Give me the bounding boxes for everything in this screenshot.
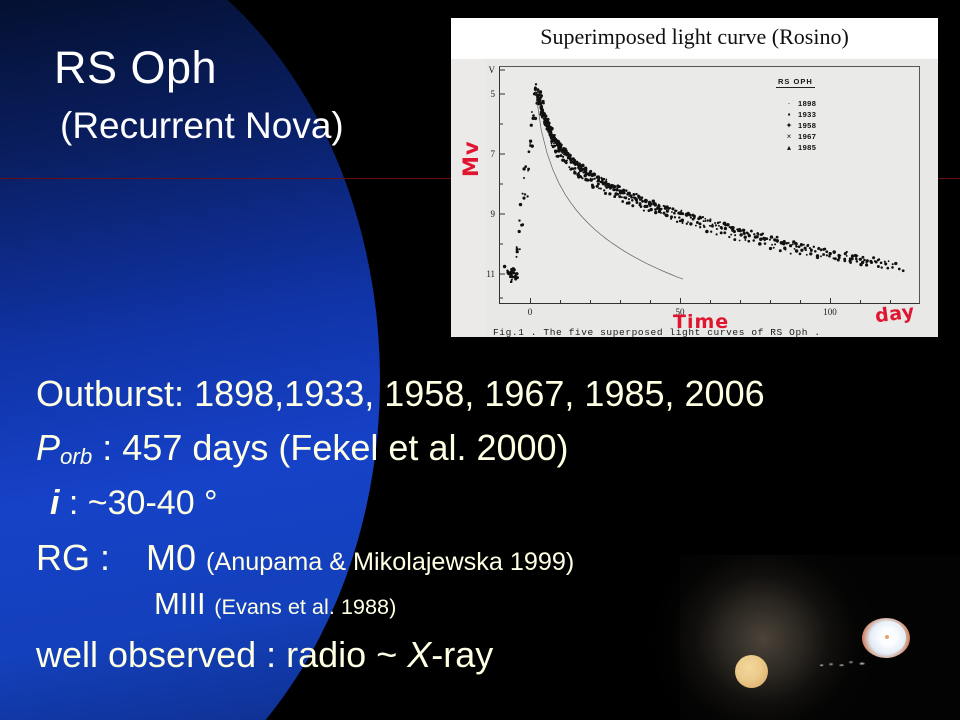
fact-list: Outburst: 1898,1933, 1958, 1967, 1985, 2… xyxy=(36,376,960,673)
figure-title-banner: Superimposed light curve (Rosino) xyxy=(451,18,938,59)
y-tick-label-5: 5 xyxy=(491,89,496,99)
fact-outburst: Outburst: 1898,1933, 1958, 1967, 1985, 2… xyxy=(36,376,960,412)
y-tick-label-7: 7 xyxy=(491,149,496,159)
y-tick-label-9: 9 xyxy=(491,209,496,219)
page-title: RS Oph xyxy=(54,42,217,94)
rg-type: M0 xyxy=(146,537,196,578)
y-tick-label-11: 11 xyxy=(486,269,495,279)
handwritten-x-axis-label: Time xyxy=(673,311,729,333)
observed-value-prefix: radio ~ xyxy=(286,634,407,675)
fact-orbital-period: Porb : 457 days (Fekel et al. 2000) xyxy=(36,430,960,468)
observed-label: well observed xyxy=(36,634,256,675)
x-tick-label-100: 100 xyxy=(823,307,837,317)
page-subtitle: (Recurrent Nova) xyxy=(60,105,344,147)
figure-left-margin xyxy=(451,59,485,337)
x-tick-label-0: 0 xyxy=(528,307,533,317)
slide-canvas: RS Oph (Recurrent Nova) Superimposed lig… xyxy=(0,0,960,720)
light-curve-datapoints xyxy=(500,67,919,303)
porb-separator: : xyxy=(92,427,122,468)
plot-frame: V 5 7 9 11 0 xyxy=(499,66,920,304)
fact-red-giant: RG : M0 (Anupama & Mikolajewska 1999) xyxy=(36,540,960,576)
outburst-label: Outburst: xyxy=(36,373,184,414)
mIII-type: MIII xyxy=(154,586,206,621)
rg-label: RG xyxy=(36,537,90,578)
inclination-value: ~30-40 ° xyxy=(88,484,218,522)
porb-symbol: P xyxy=(36,427,60,468)
light-curve-figure: Superimposed light curve (Rosino) V 5 7 … xyxy=(451,18,938,337)
observed-value-suffix: -ray xyxy=(431,634,493,675)
figure-caption: Fig.1 . The five superposed light curves… xyxy=(493,327,821,338)
y-axis-top-label: V xyxy=(489,65,496,75)
rg-separator: : xyxy=(90,537,120,578)
inclination-separator: : xyxy=(59,484,87,522)
fact-observations: well observed : radio ~ X-ray xyxy=(36,637,960,673)
porb-subscript: orb xyxy=(60,444,92,469)
figure-title: Superimposed light curve (Rosino) xyxy=(451,24,938,50)
observed-value-xray-symbol: X xyxy=(407,634,431,675)
mIII-reference: (Evans et al. 1988) xyxy=(214,594,396,619)
figure-body: V 5 7 9 11 0 xyxy=(451,59,938,337)
observed-separator: : xyxy=(256,634,286,675)
outburst-years: 1898,1933, 1958, 1967, 1985, 2006 xyxy=(194,373,765,414)
handwritten-x-unit-label: day xyxy=(874,301,916,328)
fact-mIII: MIII (Evans et al. 1988) xyxy=(36,588,960,619)
porb-value: 457 days (Fekel et al. 2000) xyxy=(122,427,568,468)
fact-inclination: i : ~30-40 ° xyxy=(36,486,960,520)
rg-reference: (Anupama & Mikolajewska 1999) xyxy=(206,548,574,576)
handwritten-y-axis-label: Mv xyxy=(459,140,483,177)
